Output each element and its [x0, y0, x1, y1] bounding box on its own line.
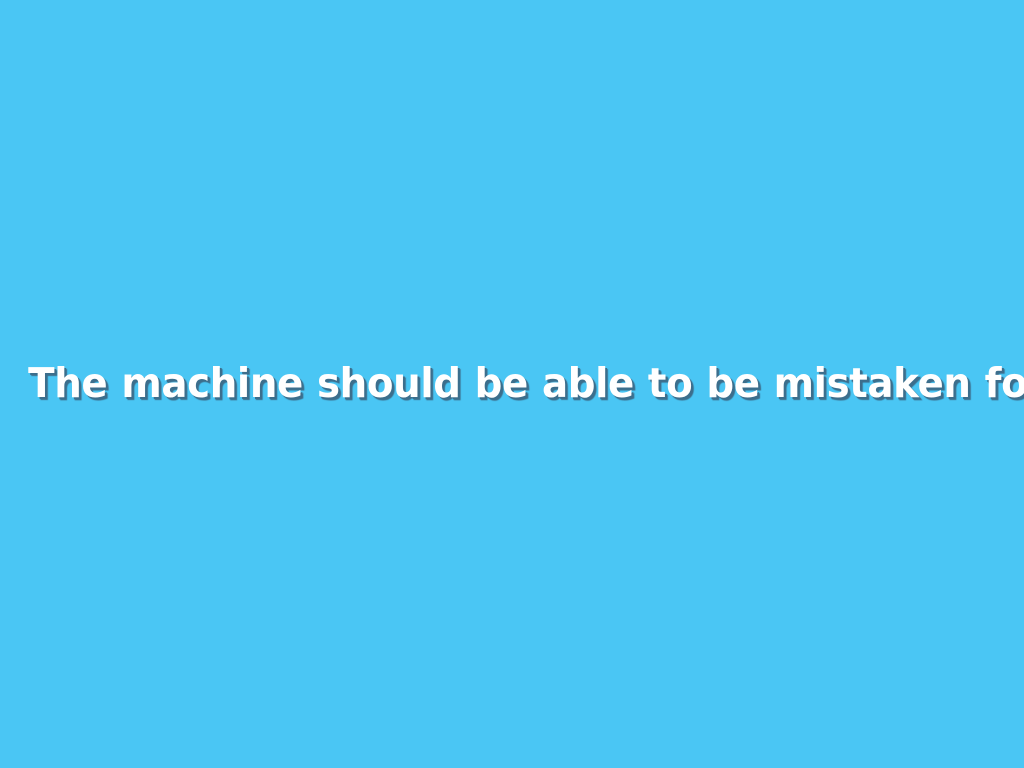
quote-container: The machine should be able to be mistake…	[0, 0, 1024, 768]
quote-slide: The machine should be able to be mistake…	[0, 0, 1024, 768]
quote-text: The machine should be able to be mistake…	[28, 362, 996, 405]
